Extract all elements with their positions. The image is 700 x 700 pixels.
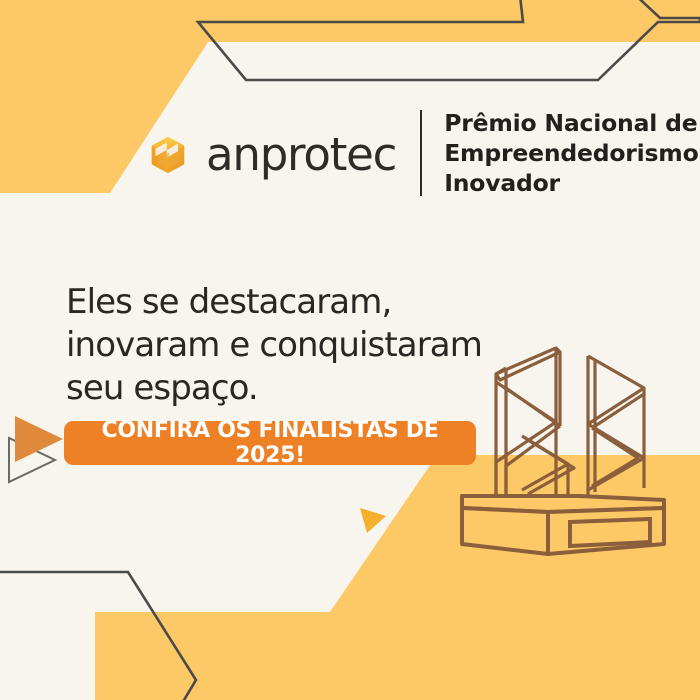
logo-lockup: anprotec Prêmio Nacional de Empreendedor… <box>148 108 699 198</box>
play-arrow-small-icon <box>356 504 390 538</box>
headline: Eles se destacaram, inovaram e conquista… <box>66 281 482 409</box>
lockup-divider <box>420 110 422 196</box>
award-title: Prêmio Nacional de Empreendedorismo Inov… <box>444 108 698 198</box>
promo-banner: anprotec Prêmio Nacional de Empreendedor… <box>0 0 700 700</box>
brand-wordmark: anprotec <box>206 132 396 177</box>
trophy-wireframe-icon <box>452 330 674 566</box>
anprotec-hexagon-logo-icon <box>148 135 188 175</box>
cta-button[interactable]: CONFIRA OS FINALISTAS DE 2025! <box>64 421 476 465</box>
